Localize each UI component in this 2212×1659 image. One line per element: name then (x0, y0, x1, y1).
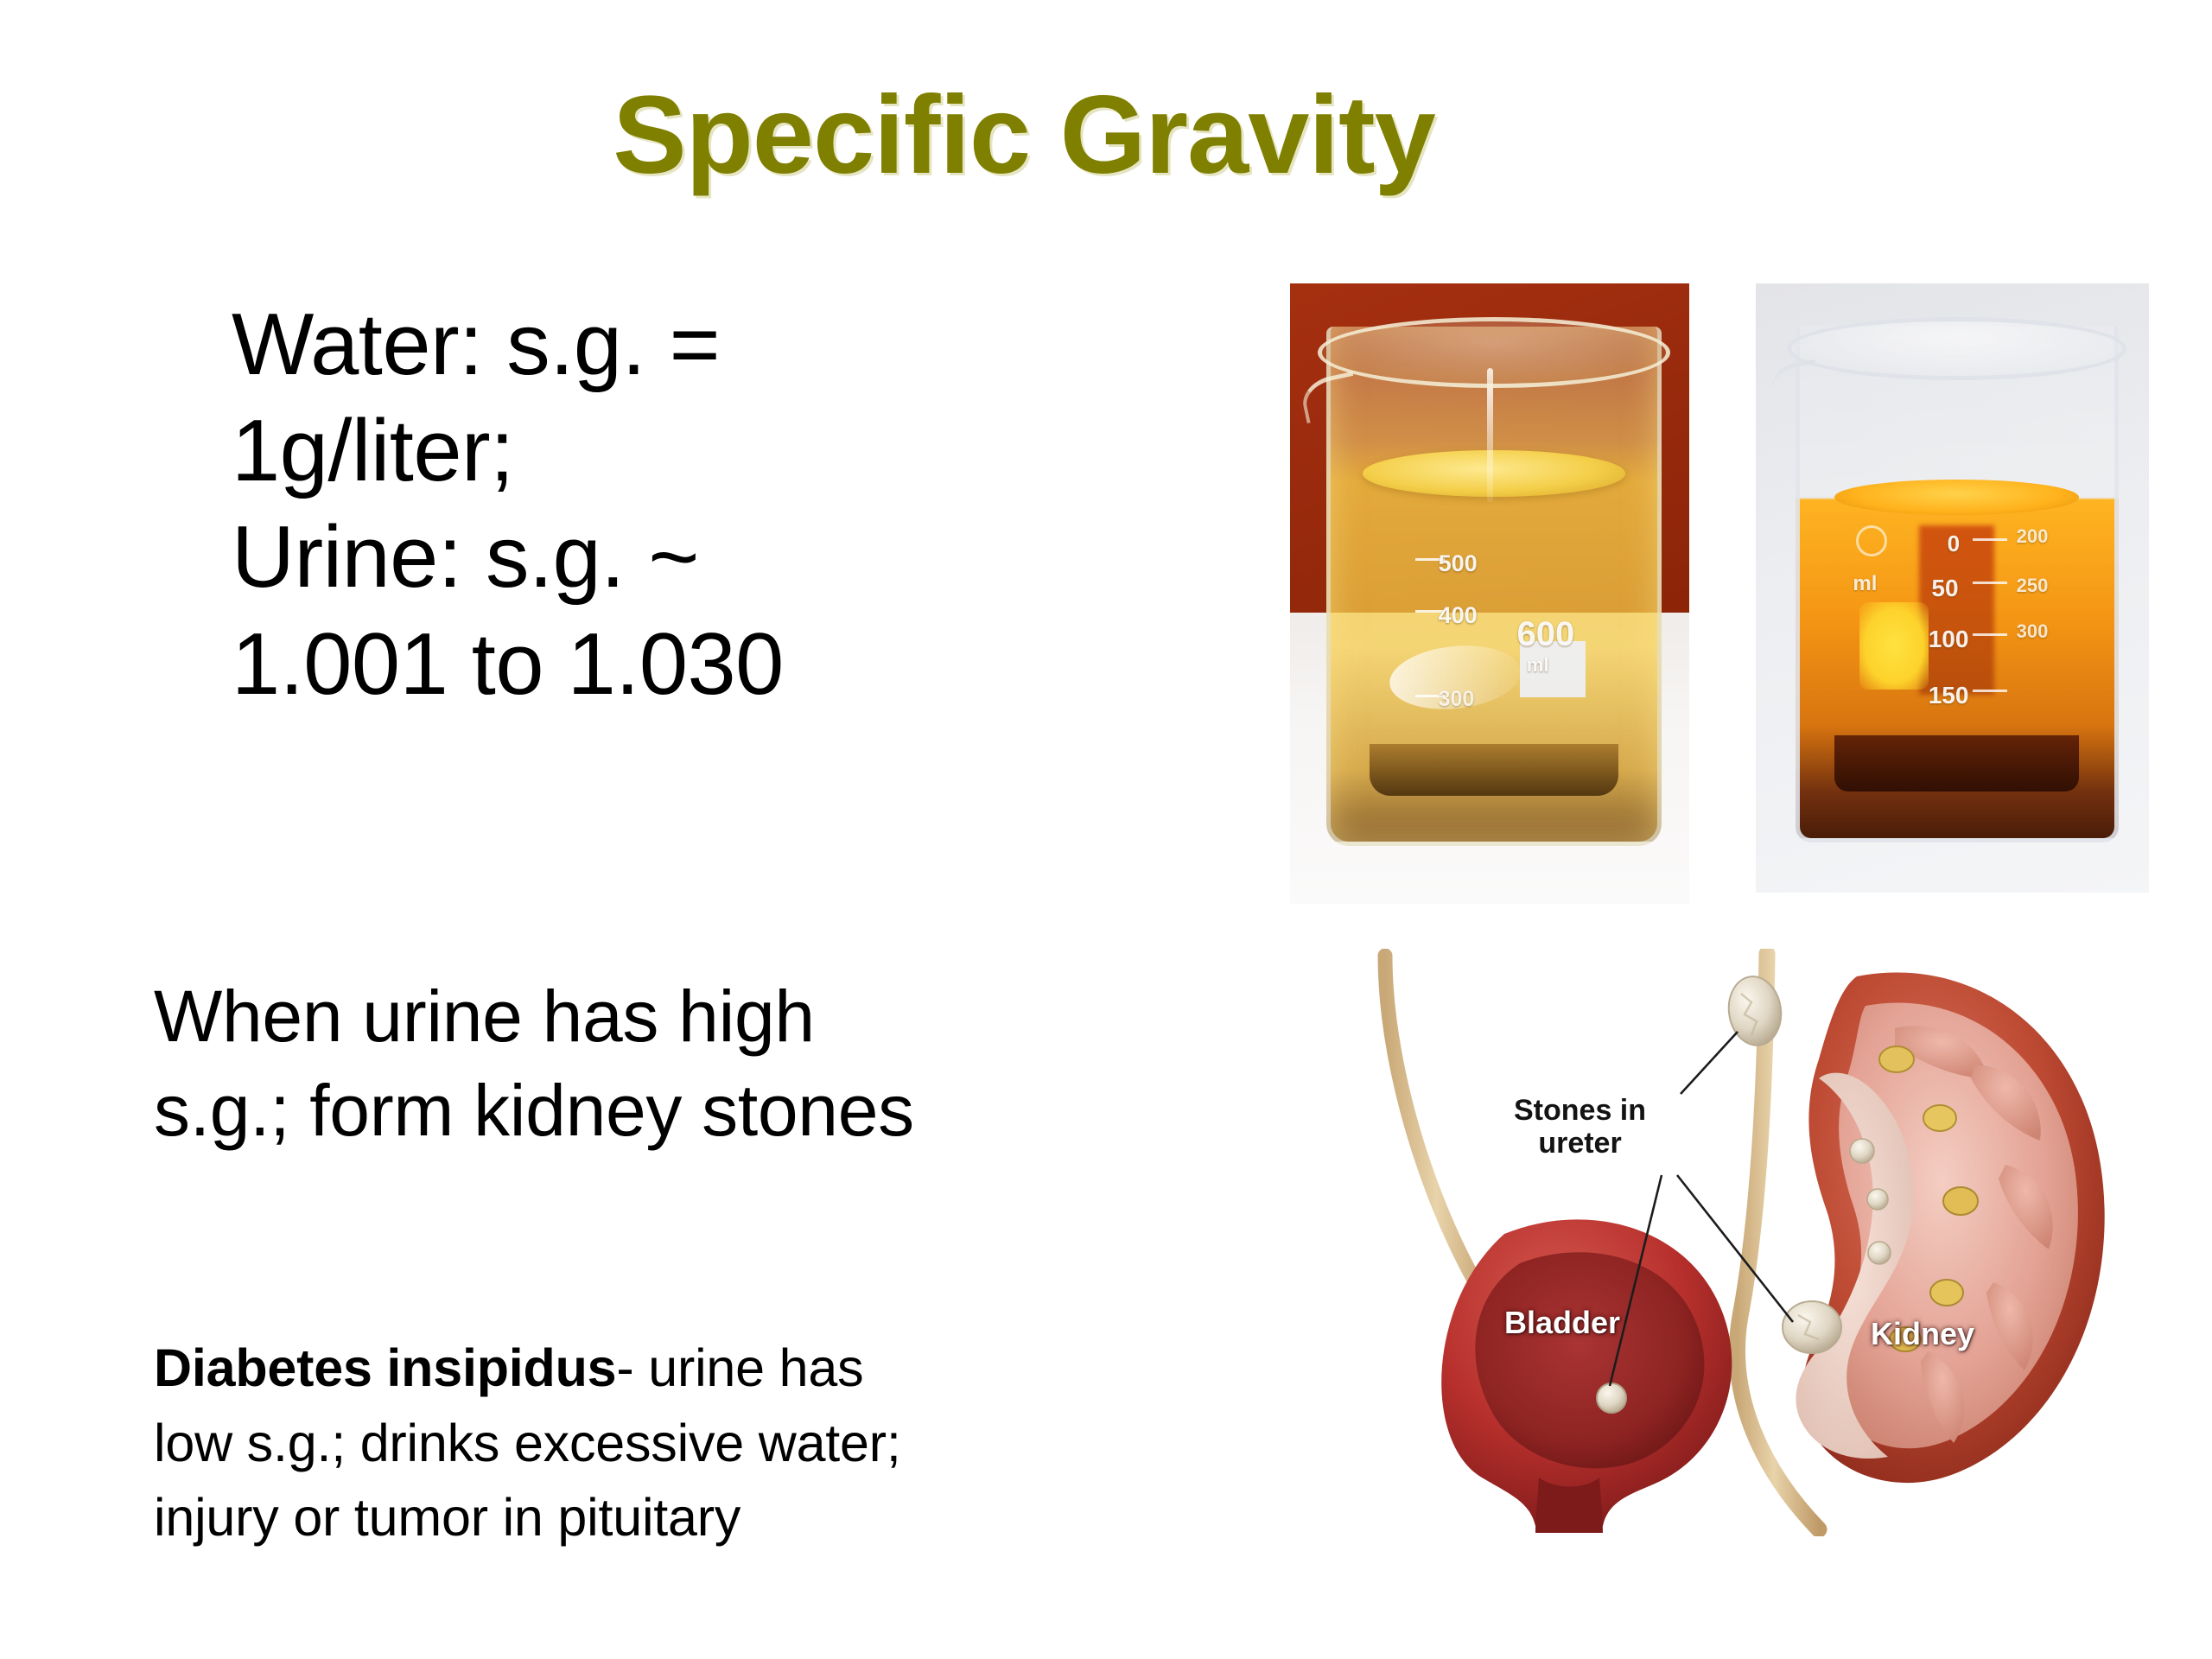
concentrated-urine-beaker-image: 0 50 100 150 200 250 300 ml (1756, 283, 2149, 893)
stones-in-ureter-label-line1: Stones in (1514, 1094, 1646, 1127)
diabetes-insipidus-line-3: injury or tumor in pituitary (154, 1480, 1312, 1555)
beaker-dark-tick-50 (1973, 582, 2007, 584)
beaker-dark-mark-300: 300 (2017, 620, 2049, 643)
kidney-stones-line-2: s.g.; form kidney stones (154, 1064, 1303, 1158)
diabetes-insipidus-line-2: low s.g.; drinks excessive water; (154, 1406, 1312, 1481)
definition-line-1: Water: s.g. = (232, 292, 1104, 398)
beaker-light-glass: 500 400 300 600 ml (1326, 327, 1662, 846)
beaker-light-capacity-unit: ml (1527, 654, 1549, 677)
beaker-light-specular-highlight (1487, 368, 1493, 502)
beaker-light-sediment (1370, 744, 1618, 796)
beaker-dark-sediment (1834, 735, 2080, 791)
beaker-dark-liquid-surface (1834, 480, 2080, 515)
beaker-light-capacity-600: 600 (1517, 615, 1575, 654)
beaker-light-liquid-surface (1363, 450, 1624, 497)
bladder-organ (1441, 1219, 1732, 1533)
diabetes-insipidus-line-1: Diabetes insipidus- urine has (154, 1331, 1312, 1406)
beaker-dark-highlight-patch (1859, 602, 1929, 690)
beaker-dark-mark-200: 200 (2017, 525, 2049, 548)
beaker-dark-rim (1787, 317, 2126, 380)
beaker-dark-mark-0: 0 (1948, 531, 1960, 557)
definition-line-4: 1.001 to 1.030 (232, 612, 1104, 718)
beaker-dark-tick-150 (1973, 690, 2007, 692)
beaker-dark-mark-150: 150 (1929, 682, 1969, 709)
kidney-stones-anatomy-image: Stones in ureter Bladder Kidney (1335, 949, 2147, 1536)
ureter-stone-lower (1783, 1301, 1841, 1353)
beaker-dark-tick-0 (1973, 538, 2007, 541)
bladder-label: Bladder (1504, 1305, 1620, 1341)
bladder-stone (1597, 1383, 1626, 1413)
stones-in-ureter-label-line2: ureter (1538, 1127, 1621, 1160)
kidney-organ (1796, 973, 2104, 1484)
page-title: Specific Gravity (0, 76, 2048, 195)
definition-line-3: Urine: s.g. ~ (232, 505, 1104, 611)
diabetes-insipidus-note: Diabetes insipidus- urine has low s.g.; … (154, 1331, 1312, 1555)
diabetes-insipidus-rest: - urine has (616, 1338, 863, 1397)
kidney-stones-note: When urine has high s.g.; form kidney st… (154, 969, 1303, 1158)
kidney-label: Kidney (1871, 1316, 1974, 1352)
beaker-light-rim (1318, 317, 1669, 388)
definition-line-2: 1g/liter; (232, 398, 1104, 505)
beaker-dark-glass: 0 50 100 150 200 250 300 ml (1796, 326, 2119, 842)
beaker-dark-mark-50: 50 (1931, 575, 1958, 602)
stones-in-ureter-label: Stones in ureter (1514, 1094, 1646, 1160)
anatomy-illustration (1335, 949, 2147, 1536)
beaker-light-mark-300: 300 (1439, 687, 1475, 712)
specific-gravity-definition: Water: s.g. = 1g/liter; Urine: s.g. ~ 1.… (232, 292, 1104, 718)
beaker-light-mark-400: 400 (1439, 602, 1478, 629)
beaker-dark-unit: ml (1853, 572, 1877, 596)
diabetes-insipidus-term: Diabetes insipidus (154, 1338, 616, 1397)
beaker-dark-mark-100: 100 (1929, 626, 1969, 653)
beaker-dark-logo-mark (1856, 525, 1887, 556)
beaker-dark-mark-250: 250 (2017, 575, 2049, 597)
kidney-stones-line-1: When urine has high (154, 969, 1303, 1064)
beaker-dark-tick-100 (1973, 633, 2007, 636)
beaker-dark-spout (1768, 359, 1821, 407)
dilute-urine-beaker-image: 500 400 300 600 ml (1290, 283, 1689, 904)
beaker-light-mark-500: 500 (1439, 550, 1478, 577)
